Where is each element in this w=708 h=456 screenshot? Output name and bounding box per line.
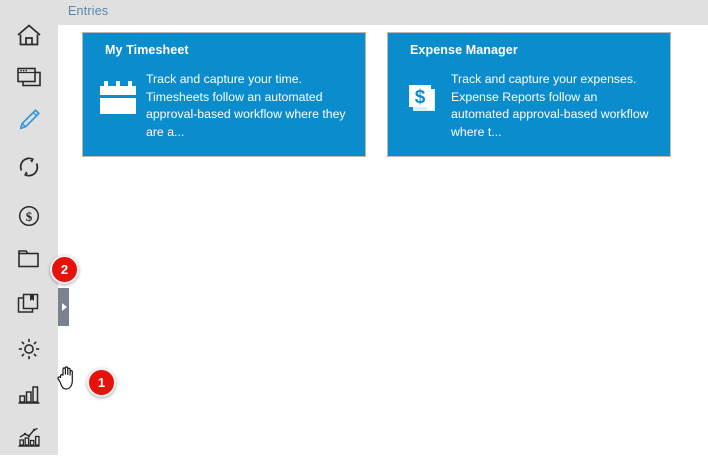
calendar-icon (96, 77, 144, 121)
annotation-badge-2: 2 (50, 255, 79, 284)
sidebar-rail: $ (0, 0, 58, 455)
chevron-right-icon (62, 303, 67, 311)
folder-icon (16, 247, 42, 271)
home-icon (16, 23, 42, 47)
sidebar-item-billing[interactable]: $ (10, 197, 48, 235)
dollar-coin-icon: $ (16, 203, 42, 229)
pencil-icon (16, 107, 42, 133)
sidebar-item-analytics[interactable] (10, 418, 48, 456)
svg-text:$: $ (415, 87, 426, 108)
line-bar-chart-icon (16, 425, 42, 449)
sidebar-item-library[interactable] (10, 285, 48, 323)
sidebar-item-projects[interactable] (10, 240, 48, 278)
page-title: Entries (68, 4, 108, 18)
sidebar-item-sync[interactable] (10, 148, 48, 186)
sidebar-item-settings[interactable] (10, 330, 48, 368)
sidebar-collapse-handle[interactable] (58, 288, 69, 326)
tile-expense-manager[interactable]: Expense Manager $ Track and capture your… (387, 32, 671, 157)
sidebar-item-home[interactable] (10, 16, 48, 54)
sidebar-item-entries[interactable] (10, 101, 48, 139)
book-stack-icon (16, 292, 42, 316)
annotation-badge-1: 1 (87, 368, 116, 397)
tile-title: My Timesheet (105, 43, 189, 57)
svg-text:$: $ (26, 209, 33, 224)
tile-description: Track and capture your time. Timesheets … (146, 71, 351, 141)
sync-icon (16, 154, 42, 180)
tile-title: Expense Manager (410, 43, 518, 57)
sidebar-item-windows[interactable] (10, 58, 48, 96)
windows-icon (16, 66, 42, 88)
mouse-cursor-pointer (56, 364, 80, 394)
expense-document-icon: $ (401, 77, 449, 121)
gear-icon (16, 336, 42, 362)
sidebar-item-reports[interactable] (10, 375, 48, 413)
content-area: My Timesheet Track and capture your time… (58, 25, 708, 455)
tile-description: Track and capture your expenses. Expense… (451, 71, 656, 141)
tile-my-timesheet[interactable]: My Timesheet Track and capture your time… (82, 32, 366, 157)
bar-chart-icon (16, 382, 42, 406)
